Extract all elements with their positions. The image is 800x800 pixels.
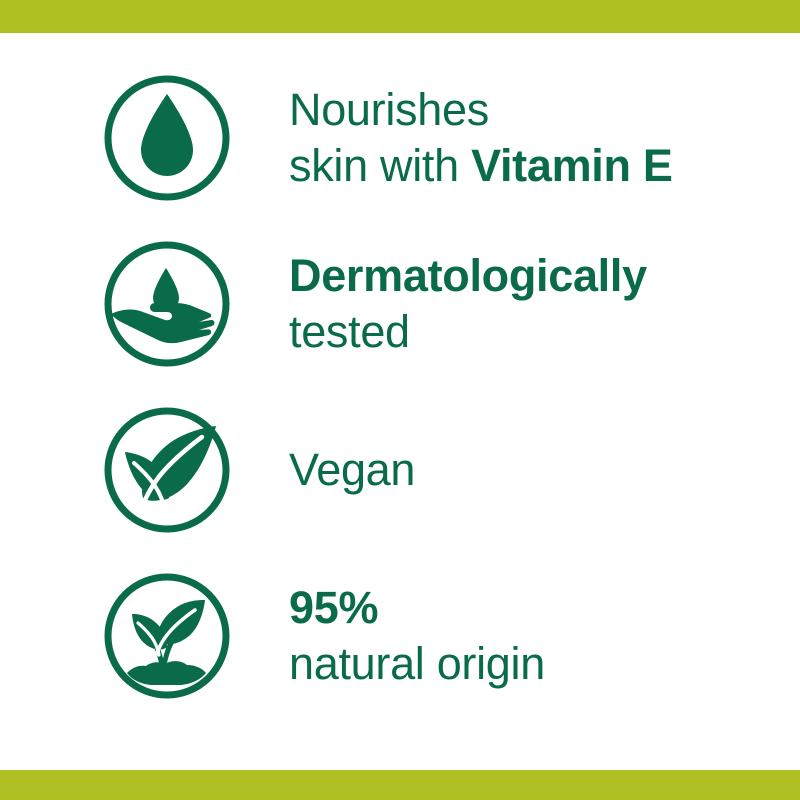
- feature-text-dermatologically-tested: Dermatologically tested: [289, 248, 647, 360]
- feature-row-dermatologically-tested: Dermatologically tested: [0, 221, 800, 387]
- feature-list: Nourishes skin with Vitamin E Dermatolog…: [0, 33, 800, 770]
- feature-text-vitamin-e: Nourishes skin with Vitamin E: [289, 82, 673, 194]
- feature-line-1: Nourishes: [289, 84, 489, 135]
- feature-line-1: 95%: [289, 582, 378, 633]
- feature-text-natural-origin: 95% natural origin: [289, 580, 545, 692]
- feature-line-1: Vegan: [289, 444, 415, 495]
- water-drop-icon: [103, 74, 231, 202]
- bottom-accent-band: [0, 770, 800, 800]
- feature-line-1: Dermatologically: [289, 250, 647, 301]
- feature-line-2: tested: [289, 306, 410, 357]
- two-leaves-icon: [103, 406, 231, 534]
- feature-line-2-regular: skin with: [289, 140, 471, 191]
- feature-line-2-bold: Vitamin E: [471, 140, 673, 191]
- feature-line-2: natural origin: [289, 638, 545, 689]
- feature-row-vegan: Vegan: [0, 387, 800, 553]
- feature-row-vitamin-e: Nourishes skin with Vitamin E: [0, 55, 800, 221]
- feature-row-natural-origin: 95% natural origin: [0, 553, 800, 719]
- feature-text-vegan: Vegan: [289, 442, 415, 498]
- top-accent-band: [0, 0, 800, 33]
- sprout-in-soil-icon: [103, 572, 231, 700]
- product-benefits-banner: Nourishes skin with Vitamin E Dermatolog…: [0, 0, 800, 800]
- hand-with-drop-icon: [103, 240, 231, 368]
